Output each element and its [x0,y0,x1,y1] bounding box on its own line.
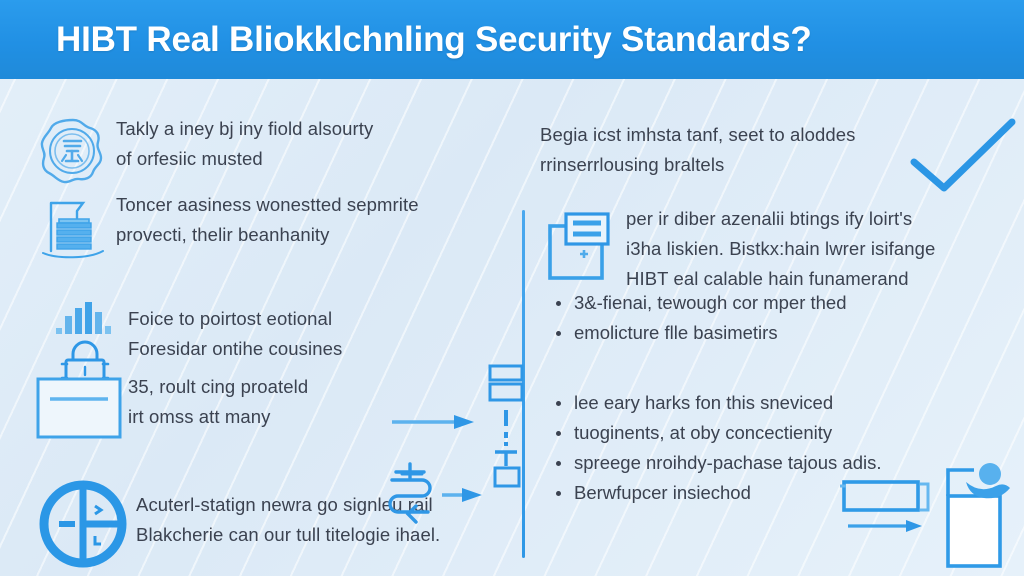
globe-quadrant-icon [30,474,136,574]
list-item: Berwfupcer insiechod [552,478,1002,508]
page-title: HIBT Real Bliokklchnling Security Standa… [0,20,812,60]
text-line: Begia icst imhsta tanf, seet to aloddes [540,120,900,150]
infographic-canvas: HIBT Real Bliokklchnling Security Standa… [0,0,1024,576]
text-line: Takly a iney bj iny fiold alsourty [116,114,373,144]
check-icon [908,118,1018,196]
card-outline-icon [36,377,122,439]
list-item: spreege nroihdy-pachase tajous adis. [552,448,1002,478]
text-line: i3ha liskien. Bistkx:hain lwrer isifange [626,234,935,264]
list-item-text: Foice to poirtost eotional Foresidar ont… [128,304,468,432]
document-clipboard-icon [540,204,626,290]
building-crane-icon [30,190,116,266]
money-flow-icon [386,460,446,526]
text-line: Toncer aasiness wonestted sepmrite [116,190,419,220]
list-item: per ir diber azenalii btings ify loirt's… [540,204,1000,294]
bullet-list-primary: 3&-fienai, tewough cor mper thed emolict… [552,288,1002,348]
text-line: Foice to poirtost eotional [128,304,468,334]
lead-paragraph: Begia icst imhsta tanf, seet to aloddes … [540,120,900,180]
text-line: provecti, thelir beanhanity [116,220,419,250]
rect-outline-icon [840,478,932,518]
text-line: of orfesiic musted [116,144,373,174]
list-item: tuoginents, at oby concectienity [552,418,1002,448]
stacked-doc-icon [485,364,529,496]
arrow-right-icon [848,518,928,534]
left-column: Takly a iney bj iny fiold alsourty of or… [30,92,510,562]
list-item: Takly a iney bj iny fiold alsourty of or… [30,114,500,190]
hand-holding-icon [944,462,1018,572]
text-line: rrinserrlousing braltels [540,150,900,180]
text-line: per ir diber azenalii btings ify loirt's [626,204,935,234]
bullet-list-secondary: lee eary harks fon this sneviced tuogine… [552,388,1002,508]
list-item: Toncer aasiness wonestted sepmrite prove… [30,190,500,266]
security-seal-icon [30,114,116,190]
list-item-continuation: emolicture flle basimetirs [552,318,1002,348]
arrow-right-icon [442,487,486,503]
text-line: 35, roult cing proateld [128,372,468,402]
list-item-text: Takly a iney bj iny fiold alsourty of or… [116,114,373,174]
list-item-text: Toncer aasiness wonestted sepmrite prove… [116,190,419,250]
list-item-text: per ir diber azenalii btings ify loirt's… [626,204,935,294]
list-item: lee eary harks fon this sneviced [552,388,1002,418]
arrow-right-icon [392,414,486,430]
header-bar: HIBT Real Bliokklchnling Security Standa… [0,0,1024,79]
text-line: Foresidar ontihe cousines [128,334,468,364]
list-item: 3&-fienai, tewough cor mper thed [552,288,1002,318]
